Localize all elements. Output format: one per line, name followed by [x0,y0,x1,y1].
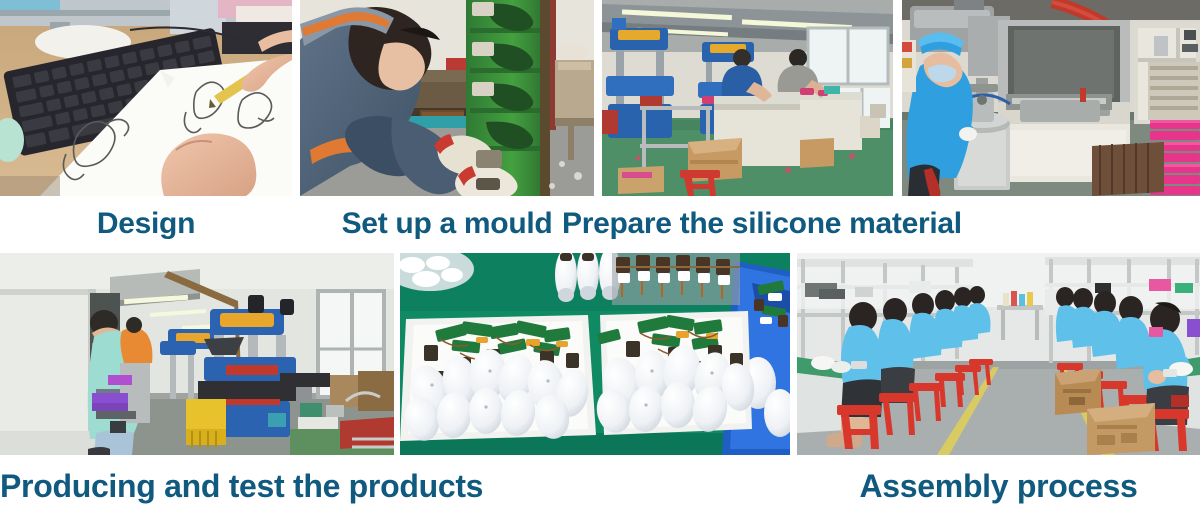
photo-producing [0,253,394,455]
caption-design: Design [0,200,292,253]
assembly-illustration [797,253,1200,455]
photo-product-trays [400,253,790,455]
caption-trays [400,458,790,524]
gallery-row-top: Design [0,0,1200,253]
caption-mould: Set up a mould [300,200,594,253]
silicone-workshop-illustration [602,0,893,196]
product-trays-illustration [400,253,790,455]
caption-producing: Producing and test the products [0,458,394,524]
photo-silicone-workshop [602,0,893,196]
photo-mould [300,0,594,196]
caption-assembly: Assembly process [797,458,1200,524]
photo-assembly [797,253,1200,455]
caption-material-prep [902,200,1200,253]
material-prep-illustration [902,0,1200,196]
gallery-row-bottom: Producing and test the products [0,253,1200,524]
photo-material-prep [902,0,1200,196]
design-illustration [0,0,292,196]
process-gallery: Design [0,0,1200,524]
producing-illustration [0,253,394,455]
mould-illustration [300,0,594,196]
photo-design [0,0,292,196]
caption-silicone: Prepare the silicone material [562,200,933,253]
